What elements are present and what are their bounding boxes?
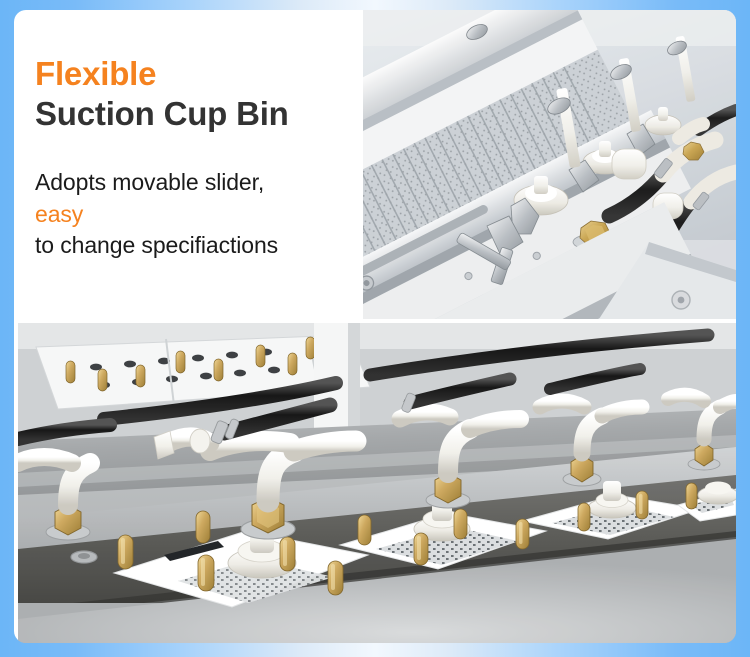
subcopy: Adopts movable slider, easy to change sp… <box>35 167 365 262</box>
photo-suction-cup-bin-conveyor <box>18 323 736 643</box>
headline-main-line: Suction Cup Bin <box>35 94 365 134</box>
photo-suction-cup-manifold-closeup <box>363 10 736 319</box>
suction-cup-manifold-image <box>363 10 736 319</box>
subcopy-line-3: to change specifiactions <box>35 230 365 262</box>
subcopy-line-1: Adopts movable slider, <box>35 167 365 199</box>
promo-banner: Flexible Suction Cup Bin Adopts movable … <box>0 0 750 657</box>
upper-section: Flexible Suction Cup Bin Adopts movable … <box>14 10 736 320</box>
page-title: Flexible Suction Cup Bin <box>35 54 365 134</box>
content-card: Flexible Suction Cup Bin Adopts movable … <box>14 10 736 643</box>
subcopy-line-2-accent: easy <box>35 199 365 231</box>
headline-accent-line: Flexible <box>35 54 365 94</box>
headline-text-block: Flexible Suction Cup Bin Adopts movable … <box>35 54 365 262</box>
suction-cup-bin-conveyor-image <box>18 323 736 643</box>
